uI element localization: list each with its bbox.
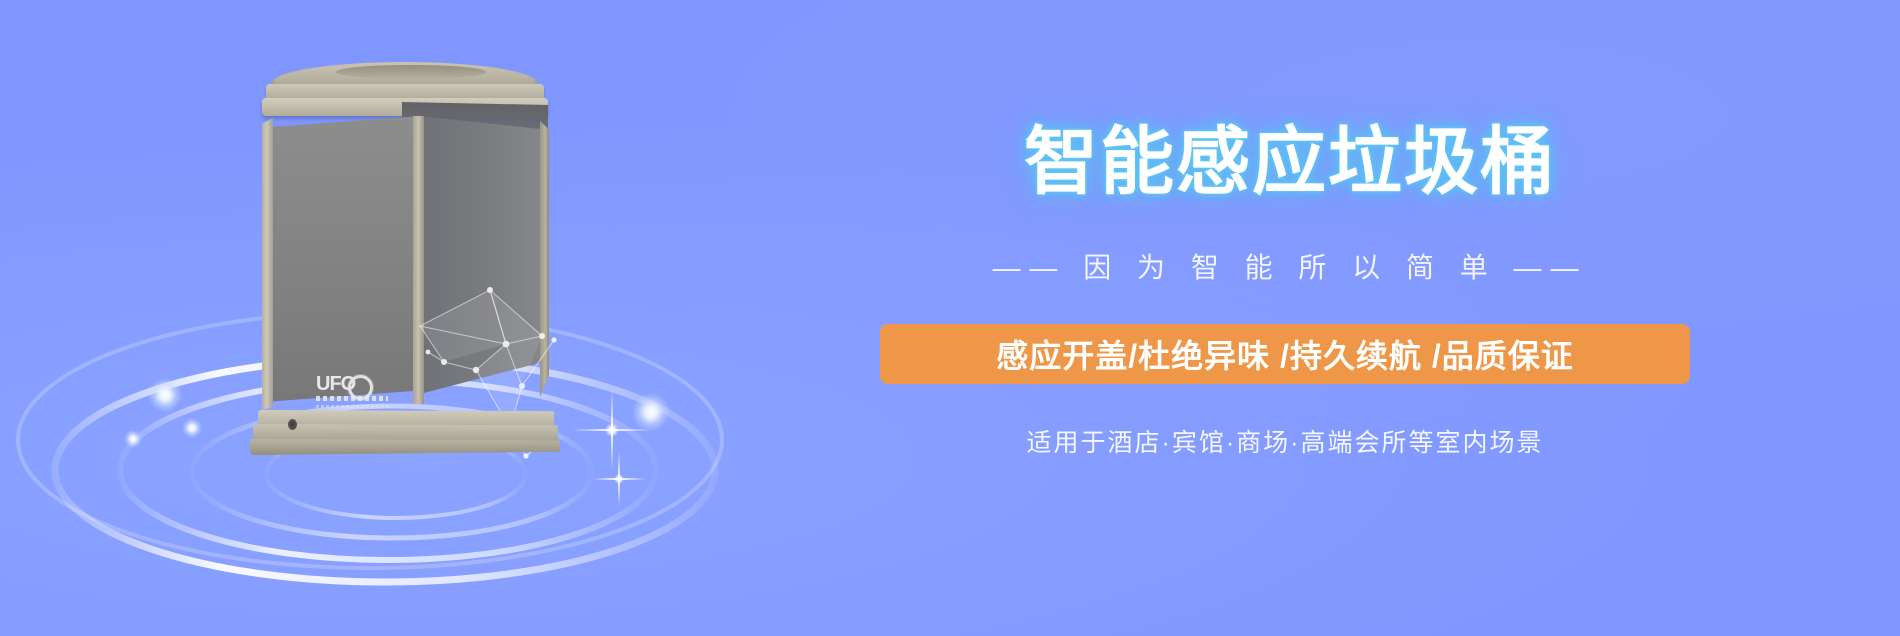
usage-scenarios-text: 适用于酒店·宾馆·商场·高端会所等室内场景 <box>880 425 1690 461</box>
smart-trash-bin: UFO <box>250 62 560 462</box>
product-scene: UFO <box>0 0 860 636</box>
brand-logo-subtext-small <box>316 405 390 408</box>
banner-subtitle: —— 因 为 智 能 所 以 简 单 —— <box>880 248 1700 288</box>
bin-lid-opening <box>336 65 486 79</box>
brand-logo-subtext <box>316 396 388 401</box>
feature-ribbon: 感应开盖/杜绝异味 /持久续航 /品质保证 <box>880 324 1690 384</box>
copy-block: 智能感应垃圾桶 —— 因 为 智 能 所 以 简 单 —— 感应开盖/杜绝异味 … <box>880 0 1900 636</box>
bin-edge-left <box>262 118 273 410</box>
promo-banner: UFO 智能感应垃圾桶 —— 因 为 智 能 所 以 简 单 —— 感应开盖/杜… <box>0 0 1900 636</box>
bin-body: UFO <box>264 116 548 416</box>
page-title: 智能感应垃圾桶 <box>880 120 1700 204</box>
feature-ribbon-text: 感应开盖/杜绝异味 /持久续航 /品质保证 <box>996 331 1573 377</box>
sensor-eye-icon <box>288 419 297 430</box>
bin-face-front <box>264 116 420 402</box>
